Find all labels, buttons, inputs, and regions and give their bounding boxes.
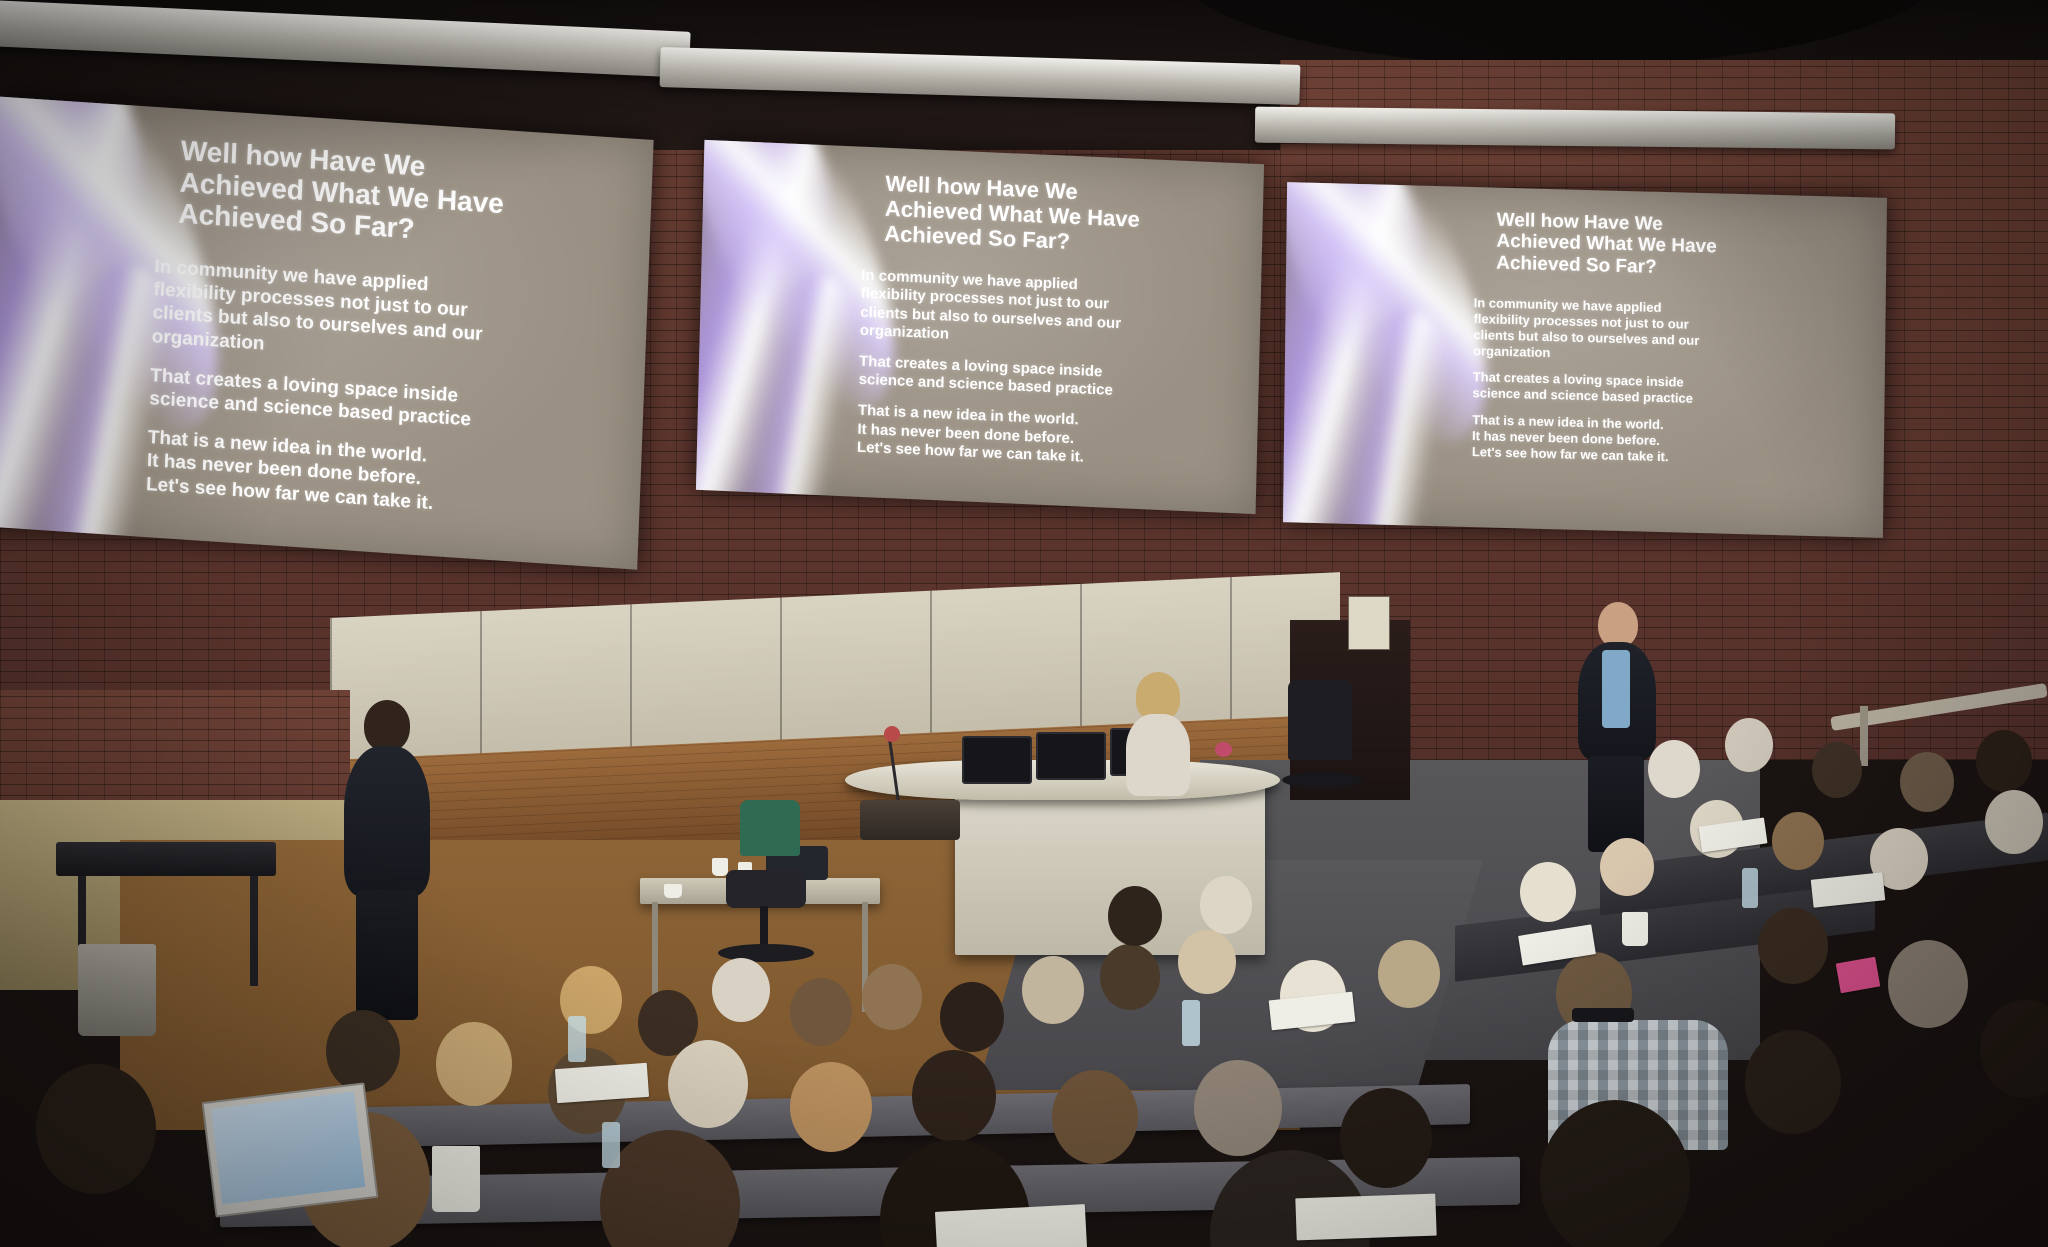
audience-head bbox=[1758, 908, 1828, 984]
screen-right-surface: Well how Have We Achieved What We Have A… bbox=[1283, 182, 1887, 538]
audience-head bbox=[862, 964, 922, 1030]
audience-head bbox=[1178, 930, 1236, 994]
cup bbox=[712, 858, 728, 876]
coffee-cup bbox=[1622, 912, 1648, 946]
legs bbox=[1588, 756, 1644, 852]
av-cart bbox=[56, 842, 276, 876]
lectern-monitor-2 bbox=[1036, 732, 1106, 780]
audience-head bbox=[1900, 752, 1954, 812]
audience-head bbox=[1100, 944, 1160, 1010]
audience-head bbox=[1022, 956, 1084, 1024]
audience-head bbox=[1648, 740, 1700, 798]
audience-head bbox=[1976, 730, 2032, 792]
waste-bin bbox=[78, 944, 156, 1036]
water-bottle bbox=[1182, 1000, 1200, 1046]
screen-center[interactable]: Well how Have We Achieved What We Have A… bbox=[696, 140, 1264, 514]
glasses-icon bbox=[1572, 1008, 1634, 1022]
hair bbox=[1136, 672, 1180, 720]
balcony-rail-post bbox=[1860, 706, 1868, 766]
av-cart-leg bbox=[250, 876, 258, 986]
lectern-operator bbox=[1118, 672, 1198, 792]
handout-paper bbox=[1295, 1194, 1436, 1241]
water-bottle bbox=[1742, 868, 1758, 908]
office-chair-seat bbox=[726, 870, 806, 908]
audience-head bbox=[1052, 1070, 1138, 1164]
audience-head bbox=[940, 982, 1004, 1052]
audience-head bbox=[1520, 862, 1576, 922]
audience-head bbox=[790, 978, 852, 1046]
office-chair-dark-base bbox=[1282, 772, 1362, 788]
slide-body-left: In community we have applied flexibility… bbox=[146, 255, 485, 518]
slide-title-right: Well how Have We Achieved What We Have A… bbox=[1496, 210, 1717, 280]
audience-head bbox=[326, 1010, 400, 1092]
head bbox=[364, 700, 410, 752]
audience-head bbox=[790, 1062, 872, 1152]
audience-head bbox=[1194, 1060, 1282, 1156]
audience-head bbox=[600, 1130, 740, 1247]
audience-head bbox=[912, 1050, 996, 1142]
office-chair-green bbox=[740, 800, 800, 856]
screen-valance-right bbox=[1255, 107, 1895, 150]
audience-head bbox=[1200, 876, 1252, 934]
audience-head bbox=[36, 1064, 156, 1194]
audience-head bbox=[1378, 940, 1440, 1008]
audience-head bbox=[1772, 812, 1824, 870]
lecture-hall-photo: Well how Have We Achieved What We Have A… bbox=[0, 0, 2048, 1247]
pink-folder bbox=[1836, 957, 1881, 993]
water-bottle bbox=[602, 1122, 620, 1168]
handout-paper bbox=[555, 1063, 649, 1103]
audience-head bbox=[1600, 838, 1654, 896]
audience-head bbox=[712, 958, 770, 1022]
slide-body-center: In community we have applied flexibility… bbox=[857, 267, 1122, 468]
coffee-cup bbox=[432, 1146, 480, 1212]
wall-notice-icon bbox=[1348, 596, 1390, 650]
cup bbox=[664, 884, 682, 898]
office-chair-dark bbox=[1288, 680, 1352, 760]
audience-head bbox=[1745, 1030, 1841, 1134]
audience-head bbox=[1985, 790, 2043, 854]
slide-body-right: In community we have applied flexibility… bbox=[1472, 295, 1700, 466]
screen-center-surface: Well how Have We Achieved What We Have A… bbox=[696, 140, 1264, 514]
slide-title-center: Well how Have We Achieved What We Have A… bbox=[884, 172, 1141, 258]
laptop-screen bbox=[211, 1092, 366, 1205]
presenter-right bbox=[1572, 602, 1660, 860]
screen-right[interactable]: Well how Have We Achieved What We Have A… bbox=[1283, 182, 1887, 538]
shirt bbox=[1602, 650, 1630, 728]
screen-left[interactable]: Well how Have We Achieved What We Have A… bbox=[0, 96, 654, 569]
audience-head bbox=[668, 1040, 748, 1128]
audience-head bbox=[1340, 1088, 1432, 1188]
audience-head bbox=[436, 1022, 512, 1106]
presenter-left bbox=[330, 700, 440, 1030]
torso bbox=[344, 746, 430, 896]
microphone-head-icon bbox=[884, 726, 900, 742]
torso bbox=[1126, 714, 1190, 796]
handout-paper bbox=[935, 1204, 1087, 1247]
audience-head bbox=[1980, 1000, 2048, 1098]
audience-head bbox=[1108, 886, 1162, 946]
water-bottle bbox=[568, 1016, 586, 1062]
audience-head bbox=[1812, 742, 1862, 798]
lectern-monitor-1 bbox=[962, 736, 1032, 784]
legs bbox=[356, 890, 418, 1020]
screen-left-surface: Well how Have We Achieved What We Have A… bbox=[0, 96, 654, 569]
microphone-head-icon bbox=[1215, 742, 1232, 757]
lectern-base bbox=[860, 800, 960, 840]
audience-head bbox=[1725, 718, 1773, 772]
audience-head bbox=[1888, 940, 1968, 1028]
audience-head bbox=[1540, 1100, 1690, 1247]
